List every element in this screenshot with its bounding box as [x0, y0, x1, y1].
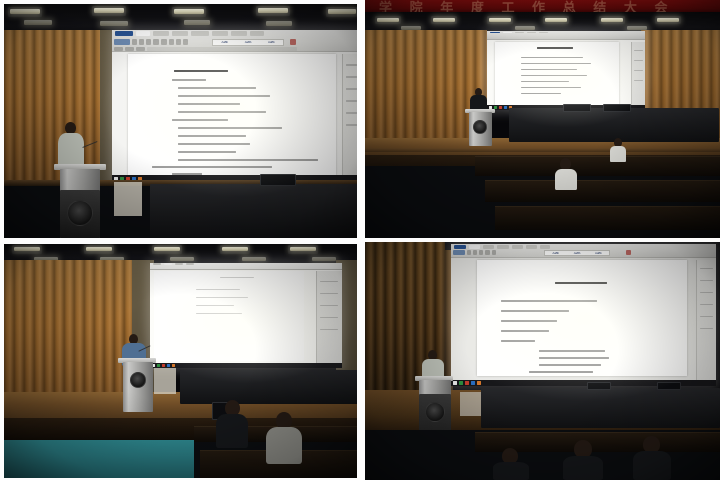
audience-member [266, 412, 302, 464]
task-pane-line [634, 60, 643, 61]
style-noSpacing-label: AaBb [245, 40, 252, 44]
ribbon-command-row[interactable]: AaBb AaBb AaBb [114, 39, 357, 45]
ceiling-light [14, 247, 40, 251]
ceiling-light [154, 247, 180, 251]
word-document-page[interactable] [495, 42, 619, 106]
align-left-icon[interactable] [169, 39, 174, 45]
loudspeaker-cone [425, 402, 445, 422]
ribbon-tab-strip[interactable] [487, 31, 645, 34]
word-task-pane[interactable] [316, 271, 342, 368]
projection-screen[interactable] [487, 31, 645, 110]
ribbon-command-row[interactable]: AaBb AaBb AaBb [453, 250, 714, 255]
task-pane-line [700, 292, 713, 293]
document-text-line [501, 300, 597, 302]
audience-member [610, 138, 626, 162]
ceiling-light [489, 18, 511, 22]
loudspeaker-cone [130, 372, 146, 388]
ceiling-light [24, 20, 52, 25]
document-text-line [178, 135, 246, 137]
photo-panel-bottom-right[interactable]: AaBb AaBb AaBb [365, 242, 720, 480]
document-text-line [521, 87, 581, 88]
task-pane-line [700, 316, 713, 317]
ribbon-tab-view[interactable] [539, 32, 548, 34]
bullet-list-icon[interactable] [485, 250, 490, 255]
word-task-pane[interactable] [342, 54, 357, 182]
orange-app-icon[interactable] [477, 381, 481, 385]
audience-torso [563, 456, 603, 480]
word-document-page[interactable] [154, 271, 304, 361]
photo-panel-top-left[interactable]: AaBb AaBb AaBb [4, 4, 357, 238]
word-task-pane[interactable] [696, 260, 716, 386]
photo-panel-bottom-left[interactable] [4, 244, 357, 478]
orange-app-icon[interactable] [172, 364, 175, 367]
word-document-page[interactable] [477, 260, 687, 376]
document-text-line [521, 75, 587, 76]
document-text-line [172, 79, 206, 81]
ribbon-tab-file[interactable] [454, 245, 466, 249]
green-app-icon[interactable] [459, 381, 463, 385]
red-app-icon[interactable] [162, 364, 165, 367]
windows-taskbar[interactable] [150, 363, 342, 368]
ribbon-tab-insert[interactable] [175, 263, 183, 264]
audience-torso [555, 169, 577, 190]
document-text-line [539, 357, 609, 359]
ribbon-tab-review[interactable] [231, 31, 247, 35]
font-command-icon[interactable] [114, 39, 130, 45]
control-desk [150, 184, 357, 238]
ceiling-light [184, 20, 210, 25]
bold-icon[interactable] [132, 39, 137, 45]
control-desk [180, 370, 357, 404]
italic-icon[interactable] [139, 39, 144, 45]
find-icon[interactable] [290, 39, 296, 45]
task-pane-line [634, 70, 643, 71]
number-list-icon[interactable] [161, 39, 167, 45]
task-pane-line [320, 305, 338, 306]
control-monitor [657, 382, 681, 390]
ceiling-light [10, 9, 40, 14]
ceiling-light [222, 247, 248, 251]
style-normal-label: AaBb [552, 251, 559, 255]
ribbon-tab-file[interactable] [490, 32, 500, 34]
align-left-icon[interactable] [492, 250, 496, 255]
style-swatch[interactable] [125, 47, 134, 51]
paper-on-desk [154, 368, 176, 394]
document-text-line [178, 103, 240, 105]
align-right-icon[interactable] [183, 39, 188, 45]
ceiling-light [242, 257, 266, 261]
blue-app-icon[interactable] [167, 364, 170, 367]
task-pane-line [320, 329, 338, 330]
ribbon-tab-review[interactable] [526, 245, 537, 249]
ribbon-tab-home[interactable] [503, 32, 512, 34]
document-text-line [178, 87, 256, 89]
font-command-icon[interactable] [453, 250, 465, 255]
underline-icon[interactable] [146, 39, 151, 45]
audience-member [633, 436, 671, 480]
style-gallery[interactable]: AaBb AaBb AaBb [212, 39, 284, 46]
photo-collage: AaBb AaBb AaBb [0, 0, 720, 480]
red-app-icon[interactable] [465, 381, 469, 385]
style-swatch[interactable] [136, 47, 145, 51]
audience-torso [633, 451, 671, 480]
task-pane-line [346, 88, 357, 90]
document-text-line [196, 297, 248, 298]
ceiling-light [328, 9, 356, 14]
task-pane-line [320, 281, 338, 282]
ribbon-tab-file[interactable] [153, 263, 161, 264]
ceiling-light [174, 9, 204, 14]
ribbon-tab-view[interactable] [186, 263, 194, 264]
document-text-line [196, 289, 240, 290]
document-text-line [539, 364, 601, 366]
task-pane-line [346, 64, 357, 66]
task-pane-line [700, 304, 713, 305]
ceiling-light [258, 8, 288, 13]
bold-icon[interactable] [467, 250, 471, 255]
document-text-line [178, 127, 282, 129]
document-text-line [501, 310, 569, 312]
ruler[interactable] [147, 47, 297, 51]
ribbon-command-row-2[interactable] [114, 47, 357, 51]
ribbon-tab-view[interactable] [250, 31, 264, 35]
ribbon-tab-insert[interactable] [515, 32, 524, 34]
ribbon-tab-home[interactable] [469, 245, 480, 249]
audience-torso [216, 414, 248, 448]
document-text-line [529, 371, 593, 373]
word-task-pane[interactable] [631, 42, 645, 110]
green-app-icon[interactable] [157, 364, 160, 367]
ceiling-light [290, 247, 316, 251]
bench-row [475, 156, 720, 176]
ribbon-tab-refs[interactable] [512, 245, 523, 249]
red-app-icon[interactable] [499, 106, 502, 109]
ribbon-tab-strip[interactable] [150, 263, 342, 265]
word-ribbon[interactable] [150, 263, 342, 270]
audience-torso [493, 462, 529, 480]
ceiling-light [545, 18, 567, 22]
audience-member [555, 158, 577, 190]
align-center-icon[interactable] [176, 39, 181, 45]
document-text-line [172, 119, 228, 121]
bench-row [495, 206, 720, 230]
paper-on-desk [114, 182, 142, 216]
document-text-line [178, 159, 318, 161]
ribbon-tab-home[interactable] [136, 31, 150, 35]
ceiling-light [377, 18, 399, 22]
ribbon-tab-home[interactable] [164, 263, 172, 264]
document-text-line [539, 350, 605, 352]
document-text-line [196, 313, 242, 314]
audience-member [493, 448, 529, 480]
style-heading1-label: AaBb [595, 251, 602, 255]
control-monitor [260, 174, 296, 186]
task-pane-line [634, 80, 643, 81]
ribbon-tab-insert[interactable] [483, 245, 494, 249]
blue-app-icon[interactable] [504, 106, 507, 109]
word-ribbon[interactable] [487, 31, 645, 40]
photo-panel-top-right[interactable]: 学 院 年 度 工 作 总 结 大 会 [365, 0, 720, 238]
document-text-line [178, 95, 270, 97]
ribbon-tab-layout[interactable] [497, 245, 509, 249]
ceiling-light [266, 21, 292, 26]
projection-screen[interactable] [150, 263, 342, 368]
underline-icon[interactable] [479, 250, 483, 255]
task-pane-line [346, 124, 357, 126]
control-desk [509, 108, 719, 142]
paper-on-desk [460, 392, 482, 416]
ceiling-light [100, 21, 128, 26]
style-swatch[interactable] [114, 47, 123, 51]
ceiling-light [94, 8, 124, 13]
audience-member [216, 400, 248, 448]
document-title-line [555, 282, 607, 284]
document-text-line [521, 93, 561, 94]
control-desk [481, 388, 720, 428]
task-pane-line [346, 76, 357, 78]
ribbon-tab-layout[interactable] [191, 31, 209, 35]
loudspeaker-cone [473, 120, 487, 134]
italic-icon[interactable] [473, 250, 477, 255]
document-title-line [174, 70, 228, 72]
control-monitor [603, 104, 631, 112]
word-document-page[interactable] [128, 54, 336, 176]
task-pane-line [634, 50, 643, 51]
ribbon-tab-insert[interactable] [153, 31, 169, 35]
ribbon-tab-strip[interactable] [112, 30, 357, 37]
audience-torso [610, 146, 626, 162]
audience-torso [266, 427, 302, 464]
document-title-line [537, 47, 573, 49]
teal-carpet [4, 440, 204, 478]
document-text-line [152, 166, 272, 168]
start-icon[interactable] [453, 381, 457, 385]
style-normal-label: AaBb [221, 40, 228, 44]
document-text-line [521, 81, 569, 82]
document-text-line [501, 330, 549, 332]
document-text-line [501, 320, 557, 322]
ribbon-tab-design[interactable] [172, 31, 188, 35]
bench-rail [365, 148, 720, 152]
task-pane-line [700, 328, 713, 329]
ribbon-tab-file[interactable] [115, 31, 133, 35]
document-text-line [521, 57, 583, 58]
style-gallery[interactable]: AaBb AaBb AaBb [544, 250, 610, 256]
task-pane-line [346, 112, 357, 114]
projection-screen[interactable]: AaBb AaBb AaBb [112, 30, 357, 182]
loudspeaker-cone [67, 200, 93, 226]
control-monitor [563, 104, 591, 112]
style-noSpacing-label: AaBb [574, 251, 581, 255]
style-heading1-label: AaBb [268, 40, 275, 44]
find-icon[interactable] [626, 250, 631, 255]
document-text-line [178, 151, 236, 153]
ceiling-light [515, 26, 535, 30]
ribbon-tab-refs[interactable] [212, 31, 228, 35]
document-text-line [521, 69, 577, 70]
ceiling-light [433, 18, 455, 22]
projection-screen[interactable]: AaBb AaBb AaBb [451, 244, 716, 386]
document-title-line [220, 277, 254, 278]
task-pane-line [346, 100, 357, 102]
document-text-line [178, 143, 250, 145]
ceiling-light [312, 257, 336, 261]
task-pane-line [700, 280, 713, 281]
document-text-line [196, 305, 234, 306]
document-text-line [521, 63, 591, 64]
document-text-line [178, 111, 266, 113]
bench-row [485, 180, 720, 202]
task-pane-line [320, 317, 338, 318]
ceiling-light [86, 247, 112, 251]
ceiling-light [657, 18, 679, 22]
word-ribbon[interactable]: AaBb AaBb AaBb [451, 244, 716, 258]
ribbon-tab-layout[interactable] [527, 32, 536, 34]
control-monitor [587, 382, 611, 390]
word-ribbon[interactable]: AaBb AaBb AaBb [112, 30, 357, 52]
task-pane-line [320, 293, 338, 294]
bullet-list-icon[interactable] [153, 39, 159, 45]
blue-app-icon[interactable] [471, 381, 475, 385]
ribbon-tab-view[interactable] [540, 245, 550, 249]
ceiling-light [601, 18, 623, 22]
ceiling-light [170, 257, 194, 261]
document-text-line [501, 340, 535, 342]
task-pane-line [700, 268, 713, 269]
audience-member [563, 440, 603, 480]
